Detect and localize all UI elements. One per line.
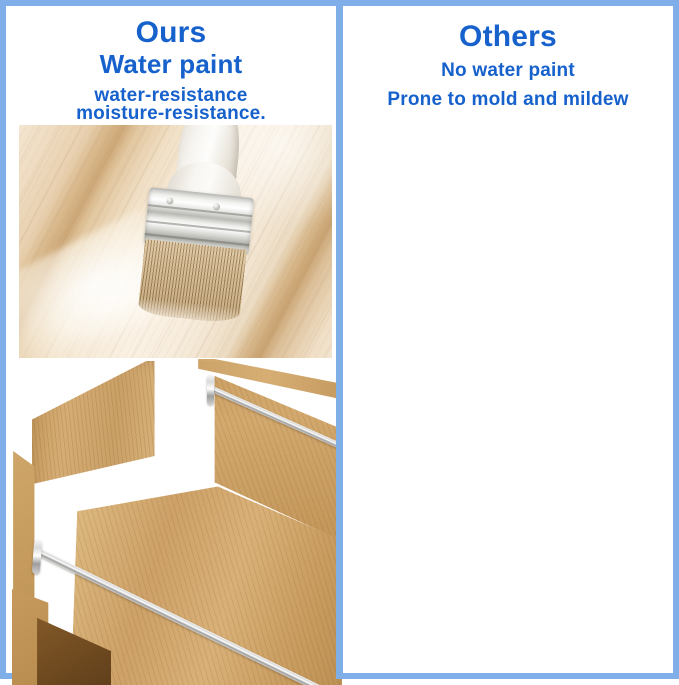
paintbrush-icon bbox=[125, 125, 272, 317]
others-title: Others bbox=[343, 20, 673, 54]
finished-shelf-photo bbox=[12, 359, 342, 685]
paintbrush-varnish-photo bbox=[19, 125, 332, 358]
brush-bristles bbox=[138, 240, 248, 325]
ours-title: Ours bbox=[6, 16, 336, 50]
ours-bullet-2: moisture-resistance. bbox=[6, 102, 336, 125]
others-bullet-1: No water paint bbox=[343, 59, 673, 82]
others-panel: Others No water paint Prone to mold and … bbox=[343, 0, 679, 679]
guard-rail-upper-post bbox=[207, 375, 214, 405]
others-bullet-2: Prone to mold and mildew bbox=[343, 88, 673, 111]
panel-divider bbox=[336, 0, 343, 679]
ours-panel: Ours Water paint water-resistance moistu… bbox=[0, 0, 336, 679]
comparison-board: Ours Water paint water-resistance moistu… bbox=[0, 0, 679, 679]
ours-subtitle: Water paint bbox=[6, 49, 336, 79]
